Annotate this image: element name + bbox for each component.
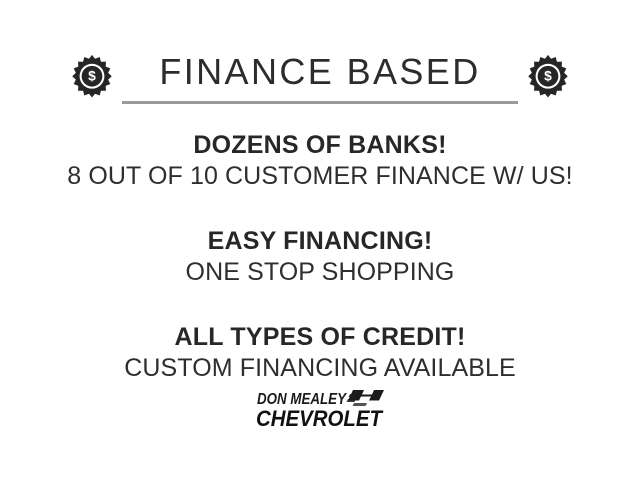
svg-text:$: $ xyxy=(544,69,552,84)
gear-dollar-icon: $ xyxy=(525,54,571,100)
title-divider xyxy=(122,101,518,104)
chevrolet-bowtie-icon xyxy=(347,390,385,406)
promo-group: DOZENS OF BANKS! 8 OUT OF 10 CUSTOMER FI… xyxy=(0,130,640,192)
promo-group: ALL TYPES OF CREDIT! CUSTOM FINANCING AV… xyxy=(0,322,640,384)
brand-name-text: CHEVROLET xyxy=(256,406,383,431)
gear-dollar-icon: $ xyxy=(69,54,115,100)
promo-copy: DOZENS OF BANKS! 8 OUT OF 10 CUSTOMER FI… xyxy=(0,130,640,384)
promo-subline: ONE STOP SHOPPING xyxy=(0,257,640,288)
promo-group: EASY FINANCING! ONE STOP SHOPPING xyxy=(0,226,640,288)
page-title: FINANCE BASED xyxy=(159,51,480,93)
dealer-logo: DON MEALEY CHEVROLET xyxy=(255,386,385,432)
promo-subline: CUSTOM FINANCING AVAILABLE xyxy=(0,353,640,384)
promo-subline: 8 OUT OF 10 CUSTOMER FINANCE W/ US! xyxy=(0,161,640,192)
promo-headline: EASY FINANCING! xyxy=(0,226,640,257)
dealer-name-text: DON MEALEY xyxy=(257,391,348,408)
promo-headline: ALL TYPES OF CREDIT! xyxy=(0,322,640,353)
finance-promo-banner: $ FINANCE BASED $ DOZENS OF BANKS! 8 OUT xyxy=(0,0,640,480)
promo-headline: DOZENS OF BANKS! xyxy=(0,130,640,161)
title-block: FINANCE BASED xyxy=(115,51,525,104)
svg-text:$: $ xyxy=(88,69,96,84)
banner-header: $ FINANCE BASED $ xyxy=(0,46,640,108)
